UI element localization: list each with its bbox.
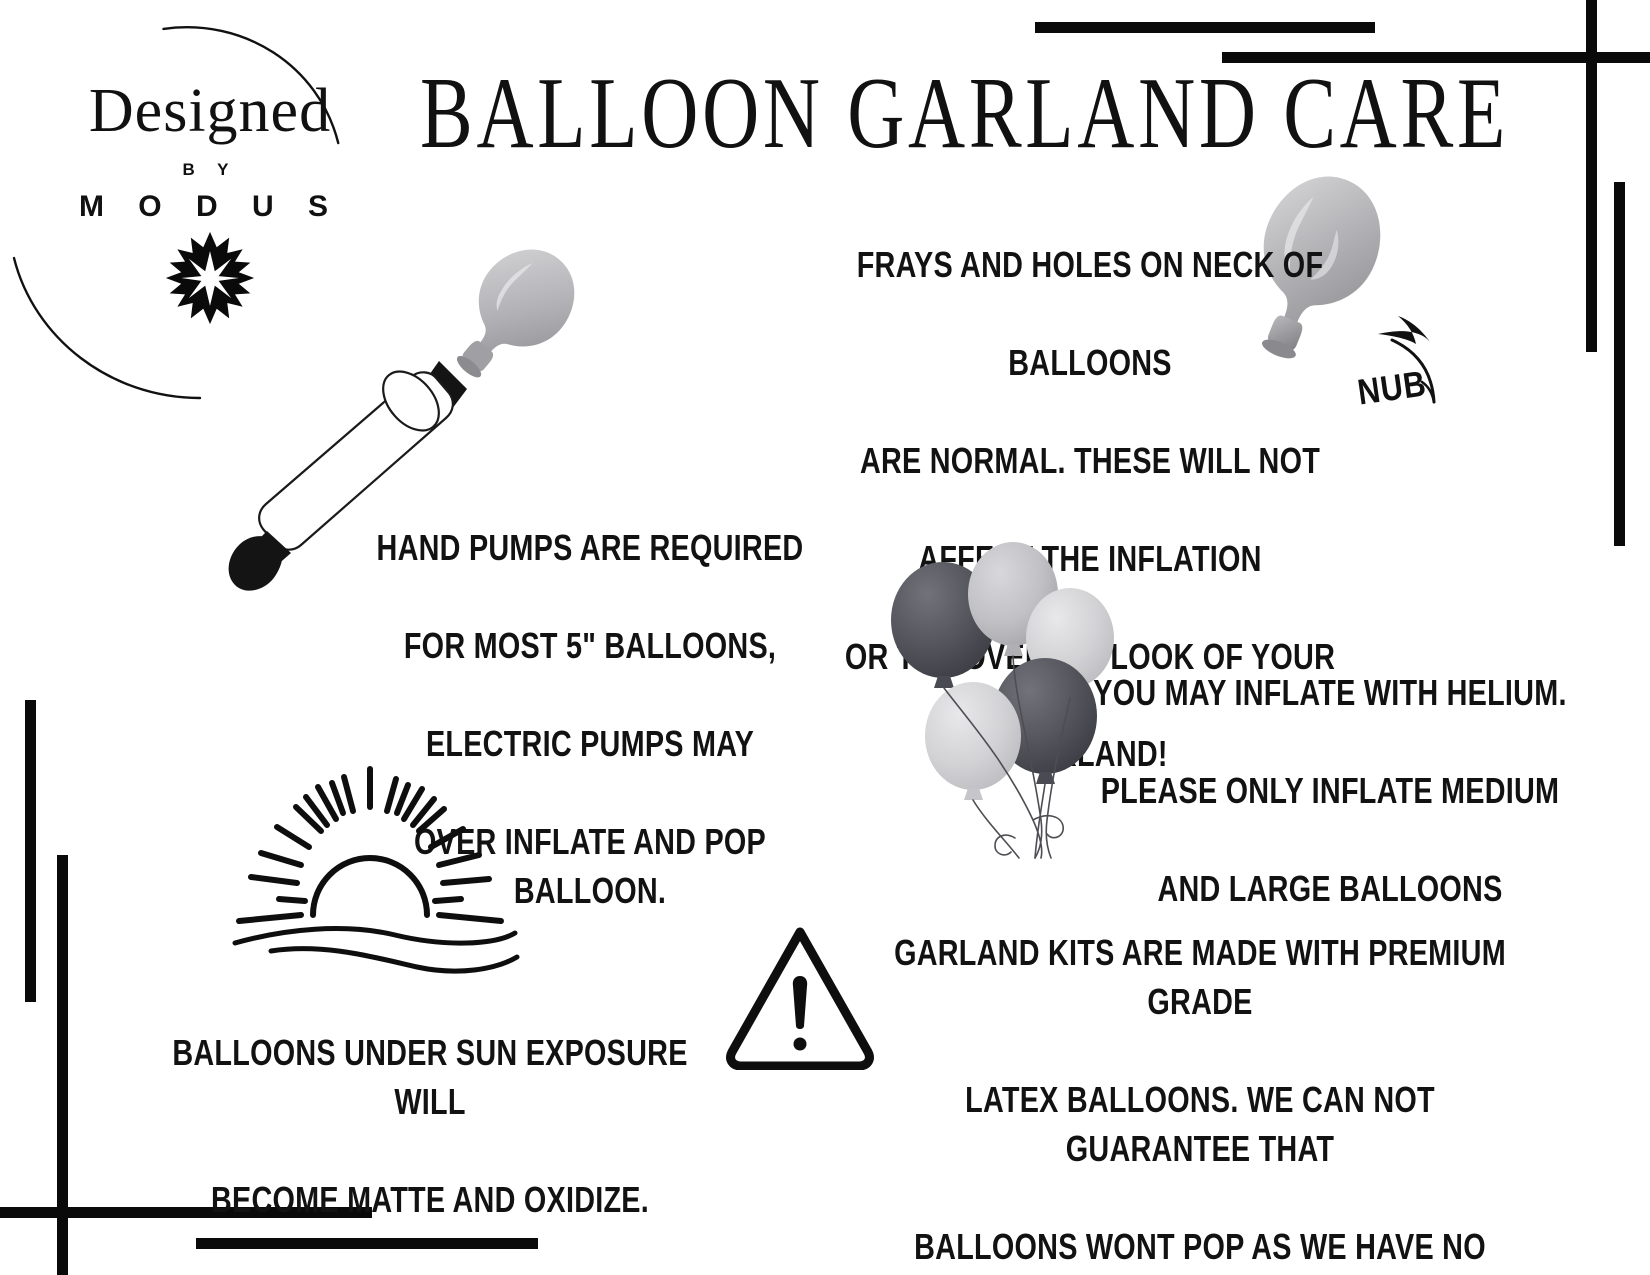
frame-bar-right-2 (1614, 182, 1625, 546)
warning-line-1: GARLAND KITS ARE MADE WITH PREMIUM GRADE (880, 929, 1520, 1027)
logo-brand-name: M O D U S (50, 190, 370, 224)
warning-line-2: LATEX BALLOONS. WE CAN NOT GUARANTEE THA… (880, 1076, 1520, 1174)
pump-line-2: FOR MOST 5" BALLOONS, (350, 622, 830, 671)
sun-line-1: BALLOONS UNDER SUN EXPOSURE WILL (150, 1029, 710, 1127)
sun-line-2: BECOME MATTE AND OXIDIZE. (150, 1176, 710, 1225)
sun-text-block: BALLOONS UNDER SUN EXPOSURE WILL BECOME … (150, 980, 710, 1274)
frays-line-2: BALLOONS (842, 339, 1338, 388)
frays-line-1: FRAYS AND HOLES ON NECK OF (842, 241, 1338, 290)
warning-line-3: BALLOONS WONT POP AS WE HAVE NO CONTROL … (880, 1223, 1520, 1275)
rising-sun-icon (205, 755, 535, 985)
warning-triangle-icon (720, 920, 880, 1075)
page-title: BALLOON GARLAND CARE (420, 62, 1230, 163)
frays-line-3: ARE NORMAL. THESE WILL NOT (842, 437, 1338, 486)
frame-bar-top-1 (1035, 22, 1375, 33)
logo-by-label: B Y (50, 160, 370, 180)
frame-bar-right-1 (1586, 0, 1597, 352)
pump-line-1: HAND PUMPS ARE REQUIRED (350, 524, 830, 573)
logo-script-word: Designed (50, 80, 370, 142)
helium-line-2: PLEASE ONLY INFLATE MEDIUM (1082, 767, 1578, 816)
helium-line-1: YOU MAY INFLATE WITH HELIUM. (1082, 669, 1578, 718)
poster-canvas: Designed B Y M O D U S BALLOON GARLAND C… (0, 0, 1650, 1275)
frame-bar-left-1 (25, 700, 36, 1002)
warning-text-block: GARLAND KITS ARE MADE WITH PREMIUM GRADE… (880, 880, 1520, 1275)
